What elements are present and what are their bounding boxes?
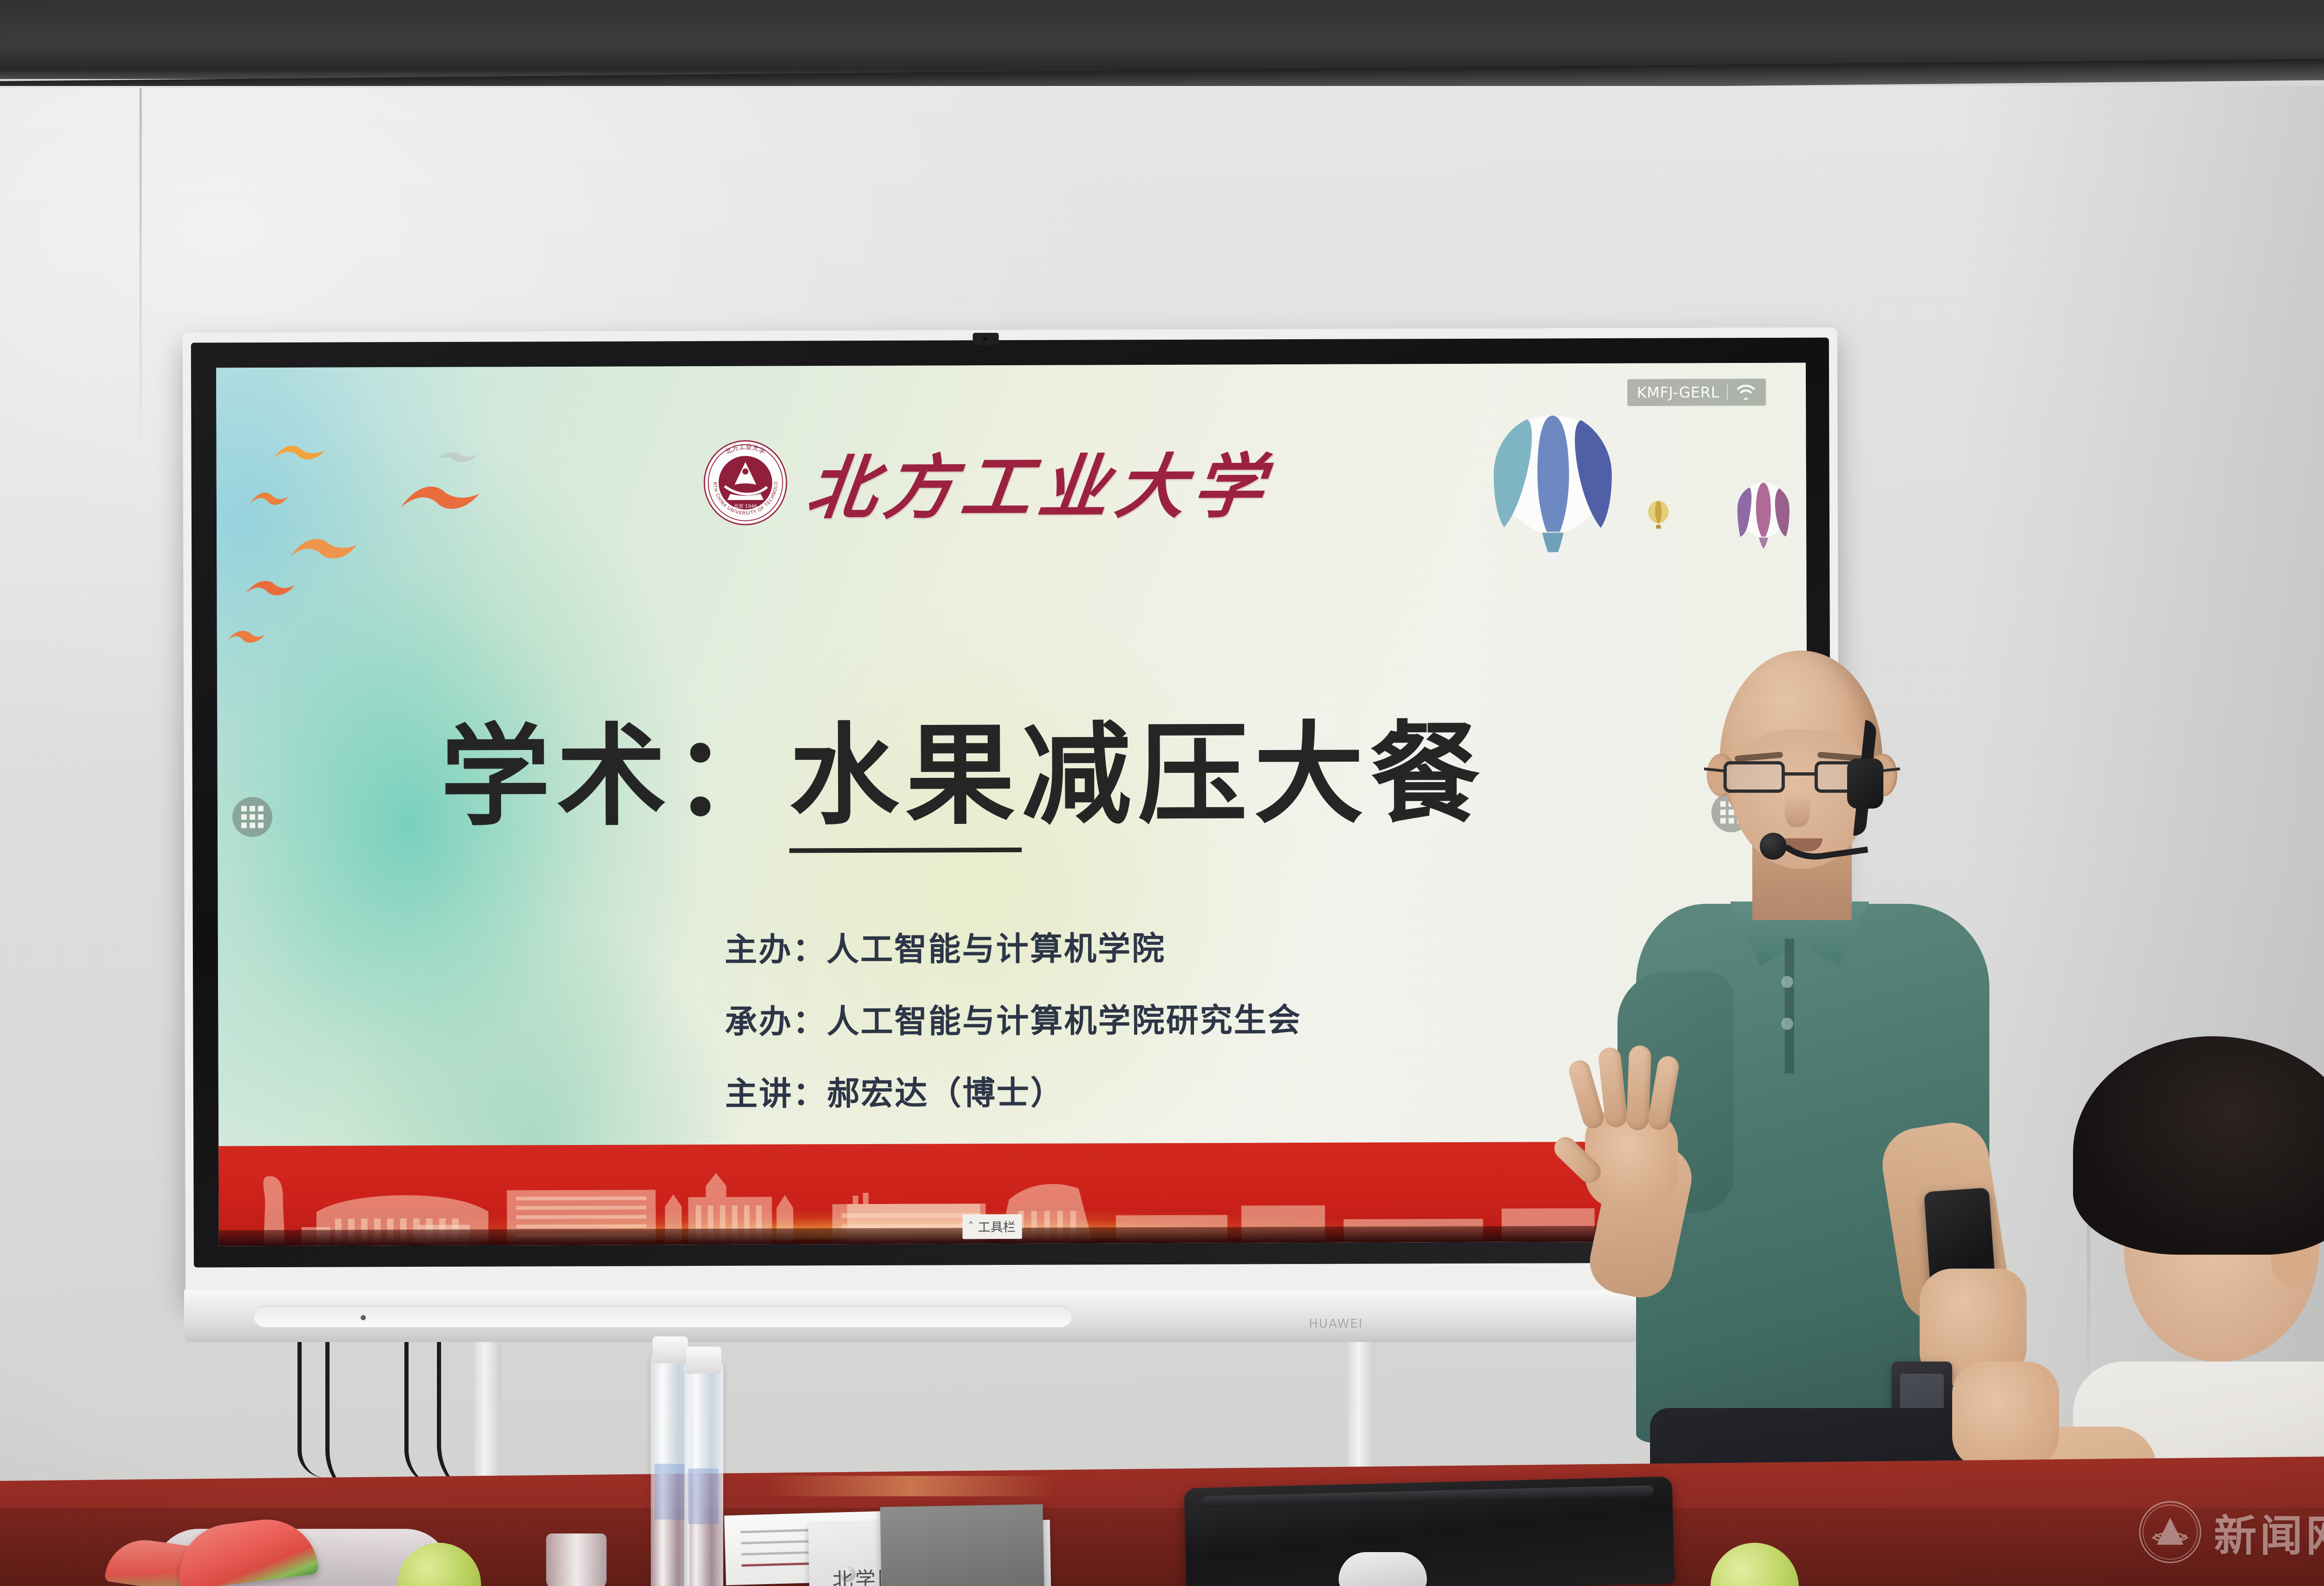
chevron-up-icon: ˄	[968, 1221, 974, 1232]
flying-birds-icon	[435, 450, 480, 466]
credit-label: 主办：	[725, 930, 826, 969]
microphone-capsule-icon	[1760, 833, 1787, 860]
laptop-icon	[1184, 1476, 1674, 1586]
credit-row: 承办：人工智能与计算机学院研究生会	[725, 994, 1301, 1043]
credit-label: 承办：	[725, 1002, 826, 1041]
mouse-icon	[1339, 1552, 1427, 1586]
listener-hair	[2073, 1036, 2324, 1255]
credit-value: 人工智能与计算机学院	[826, 929, 1166, 968]
flying-birds-icon	[271, 442, 327, 467]
wall-seam-left	[139, 88, 142, 441]
credit-value: 人工智能与计算机学院研究生会	[826, 1001, 1301, 1040]
app-grid-icon	[241, 806, 264, 828]
display-stand-column	[1348, 1341, 1375, 1481]
power-cable	[404, 1338, 442, 1487]
wifi-ssid-label: KMFJ-GERL	[1637, 383, 1720, 401]
university-wordmark: 北方工业大学	[802, 430, 1277, 533]
bottle-cap	[653, 1336, 688, 1363]
wifi-status-chip[interactable]: KMFJ-GERL	[1627, 379, 1766, 406]
app-grid-button-left[interactable]	[232, 797, 272, 837]
flying-birds-icon	[399, 481, 482, 519]
brand-label: HUAWEI	[1309, 1317, 1363, 1331]
hot-air-balloon-icon	[1736, 481, 1791, 553]
water-bottle-icon	[684, 1362, 723, 1586]
flying-birds-icon	[249, 489, 289, 510]
presenter-left-hand	[1562, 1041, 1701, 1194]
presenter-placket	[1785, 939, 1794, 1073]
slide-title-prefix: 学术：	[440, 712, 789, 841]
toolbar-tooltip-label: 工具栏	[978, 1217, 1016, 1235]
flying-birds-icon	[226, 628, 266, 646]
pen-tray[interactable]	[254, 1305, 1072, 1327]
display-stand-column	[474, 1341, 501, 1494]
bottle-cap	[686, 1347, 721, 1374]
table-highlight	[767, 1476, 1055, 1496]
credit-row: 主办：人工智能与计算机学院	[725, 922, 1301, 971]
flying-birds-icon	[244, 578, 296, 600]
cup-icon	[546, 1533, 607, 1586]
status-separator	[1727, 384, 1728, 400]
slide-brand-header: 北京·1946 北方工业大学 NORTH CHINA UNIVERSITY OF…	[702, 430, 1271, 533]
university-seal-icon	[2139, 1500, 2202, 1564]
svg-text:北京·1946: 北京·1946	[734, 503, 757, 509]
desk-plaque	[880, 1504, 1044, 1586]
photo-stage: KMFJ-GERL	[0, 0, 2324, 1586]
hot-air-balloon-icon	[1490, 413, 1616, 568]
toolbar-tooltip[interactable]: ˄ 工具栏	[963, 1214, 1022, 1239]
smartboard-camera	[973, 333, 999, 345]
university-seal-icon: 北京·1946 北方工业大学 NORTH CHINA UNIVERSITY OF…	[702, 439, 789, 526]
power-cable	[297, 1338, 325, 1478]
flying-birds-icon	[289, 534, 358, 565]
listener-hand	[1952, 1362, 2059, 1468]
ir-sensor	[361, 1315, 366, 1320]
slide-credits: 主办：人工智能与计算机学院 承办：人工智能与计算机学院研究生会 主讲：郝宏达（博…	[725, 922, 1302, 1140]
slide-title-underlined: 水果	[789, 711, 1022, 853]
slide-title-suffix: 减压大餐	[1021, 710, 1486, 839]
credit-label: 主讲：	[725, 1074, 827, 1113]
wifi-icon	[1735, 383, 1756, 401]
shirt-button	[1781, 976, 1793, 988]
slide-title: 学术：水果减压大餐	[440, 684, 1486, 847]
credit-value: 郝宏达（博士）	[827, 1074, 1064, 1113]
shirt-button	[1781, 1018, 1793, 1030]
watermark: 新闻网	[2139, 1500, 2324, 1564]
credit-row: 主讲：郝宏达（博士）	[725, 1066, 1302, 1115]
hot-air-balloon-icon	[1647, 501, 1670, 532]
watermark-text: 新闻网	[2214, 1501, 2324, 1563]
